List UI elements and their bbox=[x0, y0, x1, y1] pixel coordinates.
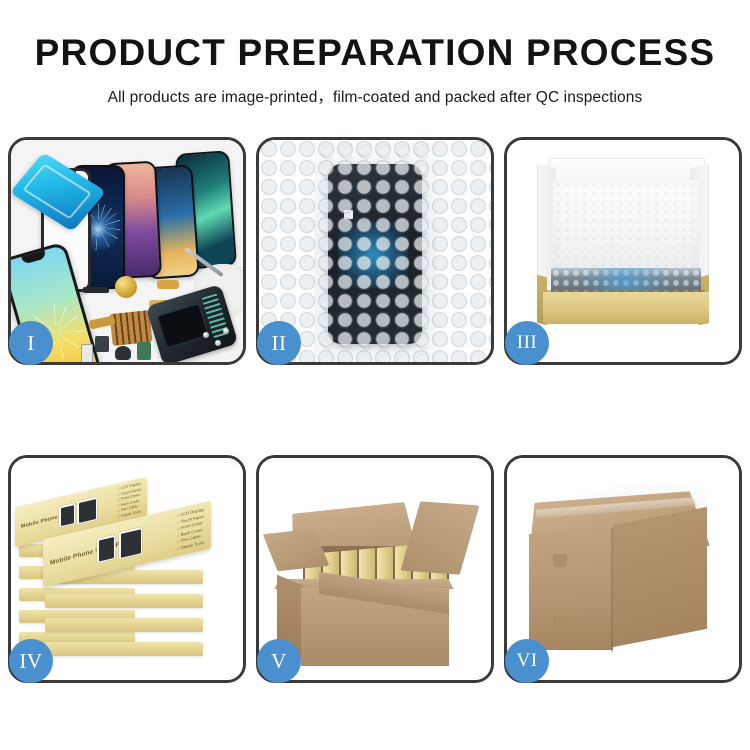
step-badge-6: VI bbox=[505, 639, 549, 683]
process-step-card-6: VI bbox=[504, 455, 742, 683]
camera-module-part bbox=[95, 336, 109, 352]
page-subtitle: All products are image-printed，film-coat… bbox=[0, 71, 750, 107]
step-badge-3: III bbox=[505, 321, 549, 365]
sealed-carton-left-face bbox=[529, 534, 613, 650]
sealed-carton-right-face bbox=[613, 507, 707, 647]
process-step-card-4: Mobile Phone Spare Parts LCD DisplayTouc… bbox=[8, 455, 246, 683]
connector-part bbox=[83, 287, 109, 293]
wrapped-phone-part bbox=[328, 164, 422, 344]
process-step-card-1: I bbox=[8, 137, 246, 365]
step-badge-1: I bbox=[9, 321, 53, 365]
step-badge-5: V bbox=[257, 639, 301, 683]
button-part bbox=[115, 346, 131, 360]
chip-array-part bbox=[109, 310, 152, 346]
flex-cable-part bbox=[157, 280, 179, 289]
page-header: PRODUCT PREPARATION PROCESS All products… bbox=[0, 0, 750, 107]
carton-flap-right bbox=[401, 501, 480, 574]
kraft-box-front bbox=[543, 292, 709, 324]
page-title: PRODUCT PREPARATION PROCESS bbox=[0, 34, 750, 71]
foam-padding bbox=[553, 180, 699, 276]
process-step-card-2: II bbox=[256, 137, 494, 365]
retail-box-checklist: LCD DisplayTouch PanelFront CoverBack Co… bbox=[117, 481, 141, 520]
speaker-part bbox=[115, 276, 137, 298]
sim-tray-part bbox=[81, 344, 93, 362]
process-step-card-3: III bbox=[504, 137, 742, 365]
screw bbox=[203, 332, 209, 338]
screw bbox=[223, 328, 229, 334]
battery-part bbox=[137, 342, 151, 360]
process-steps-grid: I II bbox=[8, 137, 742, 683]
step-badge-4: IV bbox=[9, 639, 53, 683]
process-step-card-5: V bbox=[256, 455, 494, 683]
step-badge-2: II bbox=[257, 321, 301, 365]
retail-box-checklist: LCD DisplayTouch PanelFront CoverBack Co… bbox=[177, 507, 204, 552]
screw bbox=[215, 340, 221, 346]
